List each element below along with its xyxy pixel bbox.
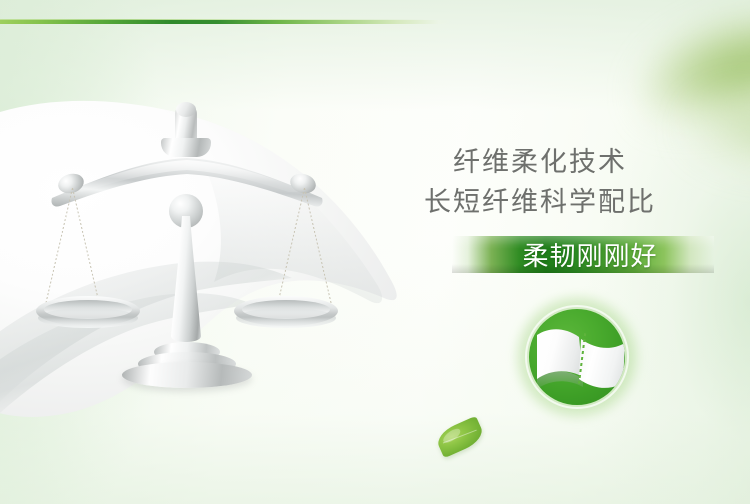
scale-pan-left (36, 296, 140, 330)
product-banner: 纤维柔化技术 长短纤维科学配比 柔韧刚刚好 (0, 0, 750, 504)
tissue-logo (529, 309, 625, 405)
scale-chain-left-front (72, 188, 100, 305)
scale-pan-right (234, 296, 338, 330)
scale-pan-left-lip (38, 308, 138, 328)
scale-chain-right-back (277, 188, 305, 305)
headline-line-1: 纤维柔化技术 (370, 142, 710, 182)
balance-scale-icon (42, 104, 332, 386)
scale-collar (161, 138, 211, 157)
scale-pan-right-lip (236, 308, 336, 328)
tissue-logo-ring (525, 305, 629, 409)
headline-text: 纤维柔化技术 长短纤维科学配比 (370, 142, 710, 222)
scale-finial-cap (176, 102, 196, 117)
accent-rule-icon (0, 20, 452, 24)
slogan-banner: 柔韧刚刚好 (452, 236, 714, 273)
slogan-text: 柔韧刚刚好 (452, 236, 714, 273)
headline-line-2: 长短纤维科学配比 (370, 182, 710, 222)
scale-base-lower (122, 362, 252, 388)
scale-column (171, 216, 201, 348)
